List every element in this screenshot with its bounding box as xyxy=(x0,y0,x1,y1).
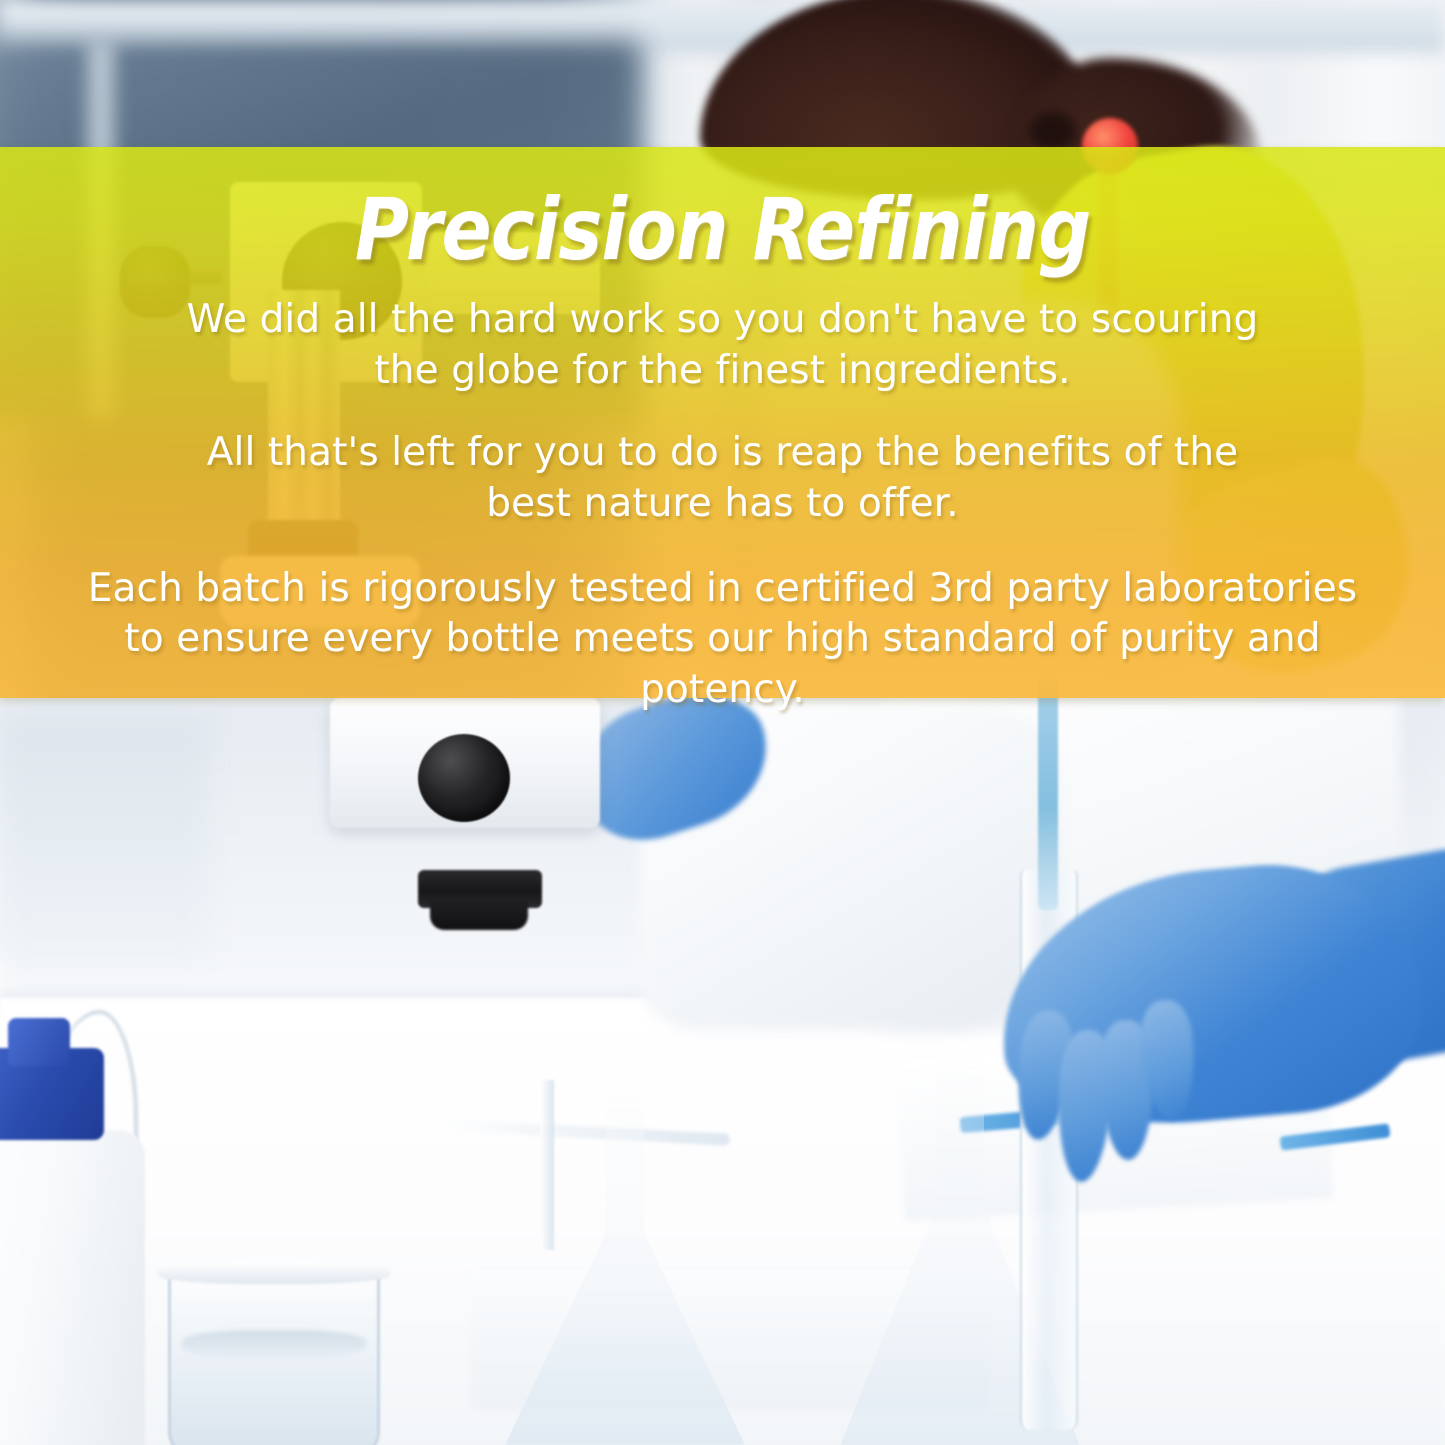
microscope-objective-lens xyxy=(430,900,528,930)
wash-bottle-spout xyxy=(8,1018,70,1066)
banner-paragraph-1: We did all the hard work so you don't ha… xyxy=(168,295,1278,396)
banner-title: Precision Refining xyxy=(355,187,1090,273)
banner-paragraph-2: All that's left for you to do is reap th… xyxy=(168,428,1278,529)
glass-beaker-liquid xyxy=(182,1330,366,1358)
precision-refining-poster: Precision Refining We did all the hard w… xyxy=(0,0,1445,1445)
wall-panel xyxy=(0,718,210,958)
gradient-banner: Precision Refining We did all the hard w… xyxy=(0,147,1445,698)
wash-bottle xyxy=(0,1130,145,1445)
banner-content: Precision Refining We did all the hard w… xyxy=(0,147,1445,698)
banner-paragraph-3: Each batch is rigorously tested in certi… xyxy=(88,564,1358,716)
hair-tie xyxy=(1030,112,1076,150)
erlenmeyer-flask-neck xyxy=(540,1080,554,1250)
glass-beaker-rim xyxy=(158,1262,390,1284)
microscope-zoom-knob xyxy=(418,734,510,822)
